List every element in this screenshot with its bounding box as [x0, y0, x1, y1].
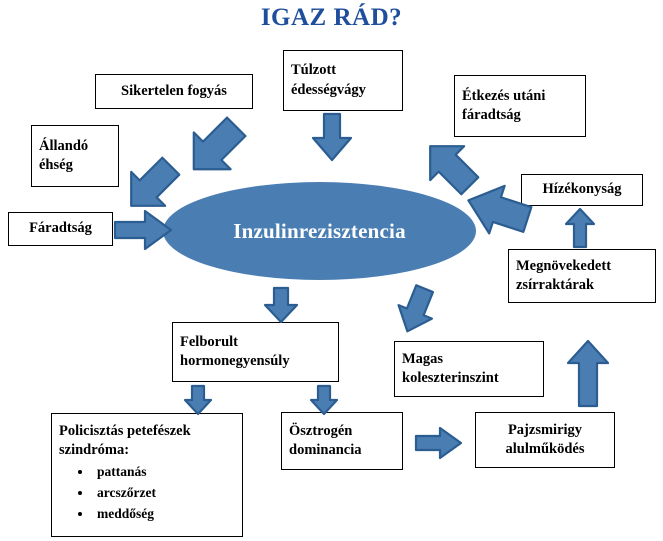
arrow-center-to-felborult-hormonegyensuly	[262, 286, 300, 324]
box-hizekonysag-label: Hízékonyság	[543, 180, 622, 199]
box-megnovekedett-zsirraktarak-line1: Megnövekedett	[516, 257, 611, 276]
arrow-center-to-magas-koleszterinszint	[390, 282, 442, 338]
arrow-megnovekedett-zsirraktarak-to-hizekonysag	[564, 207, 596, 249]
box-pajzsmirigy-alulmukodes-line1: Pajzsmirigy	[508, 421, 582, 440]
box-etkezes-utani-faradtsag[interactable]: Étkezés utáni fáradtság	[454, 75, 586, 137]
box-megnovekedett-zsirraktarak[interactable]: Megnövekedett zsírraktárak	[508, 249, 656, 303]
arrow-hormonegyensuly-to-osztrogen	[308, 384, 340, 416]
list-item: pattanás	[93, 462, 156, 483]
arrow-faradtsag-to-center	[113, 207, 175, 253]
arrow-osztrogen-to-pajzsmirigy	[414, 425, 464, 461]
box-faradtsag[interactable]: Fáradtság	[8, 212, 113, 246]
box-hizekonysag[interactable]: Hízékonyság	[521, 174, 643, 206]
box-sikertelen-fogyas[interactable]: Sikertelen fogyás	[95, 74, 253, 109]
page-title: IGAZ RÁD?	[0, 4, 663, 32]
box-sikertelen-fogyas-label: Sikertelen fogyás	[121, 82, 227, 101]
box-allando-ehseg-line1: Állandó	[39, 137, 88, 156]
arrow-hizekonysag-to-center	[457, 178, 533, 240]
pcos-heading-line2: szindróma:	[59, 441, 129, 460]
box-tulzott-edessegvagy-line1: Túlzott	[291, 61, 336, 80]
box-magas-koleszterinszint-line1: Magas	[402, 350, 443, 369]
box-faradtsag-label: Fáradtság	[29, 219, 92, 238]
box-felborult-hormonegyensuly-line2: hormonegyensúly	[180, 352, 290, 371]
list-item: arcszőrzet	[93, 483, 156, 504]
box-megnovekedett-zsirraktarak-line2: zsírraktárak	[516, 276, 594, 295]
box-etkezes-utani-faradtsag-line2: fáradtság	[462, 106, 521, 125]
box-magas-koleszterinszint[interactable]: Magas koleszterinszint	[394, 341, 544, 397]
box-allando-ehseg[interactable]: Állandó éhség	[31, 125, 119, 187]
list-item: meddőség	[93, 504, 156, 525]
box-policisztas-petefeszek-szindroma[interactable]: Policisztás petefészek szindróma: pattan…	[51, 413, 243, 537]
arrow-tulzott-edessegvagy-to-center	[310, 112, 354, 162]
box-osztrogen-dominancia-line2: dominancia	[289, 441, 362, 460]
arrow-hormonegyensuly-to-pcos	[182, 384, 214, 416]
box-tulzott-edessegvagy-line2: édességvágy	[291, 81, 366, 100]
box-tulzott-edessegvagy[interactable]: Túlzott édességvágy	[283, 50, 403, 111]
pcos-symptom-list: pattanás arcszőrzet meddőség	[59, 462, 156, 525]
box-pajzsmirigy-alulmukodes-line2: alulműködés	[506, 440, 585, 459]
arrow-sikertelen-fogyas-to-center	[180, 112, 250, 184]
box-allando-ehseg-line2: éhség	[39, 156, 73, 175]
box-osztrogen-dominancia-line1: Ösztrogén	[289, 422, 352, 441]
box-felborult-hormonegyensuly-line1: Felborult	[180, 333, 238, 352]
center-node-label: Inzulinrezisztencia	[233, 219, 406, 244]
box-felborult-hormonegyensuly[interactable]: Felborult hormonegyensúly	[172, 322, 339, 382]
box-pajzsmirigy-alulmukodes[interactable]: Pajzsmirigy alulműködés	[475, 412, 615, 468]
box-etkezes-utani-faradtsag-line1: Étkezés utáni	[462, 87, 545, 106]
arrow-pajzsmirigy-to-megnovekedett-zsirraktarak	[566, 339, 610, 409]
pcos-heading-line1: Policisztás petefészek	[59, 422, 191, 441]
box-osztrogen-dominancia[interactable]: Ösztrogén dominancia	[281, 412, 403, 470]
box-magas-koleszterinszint-line2: koleszterinszint	[402, 369, 499, 388]
diagram-canvas: IGAZ RÁD? Sikertelen fogyás Túlzott édes…	[0, 0, 663, 541]
